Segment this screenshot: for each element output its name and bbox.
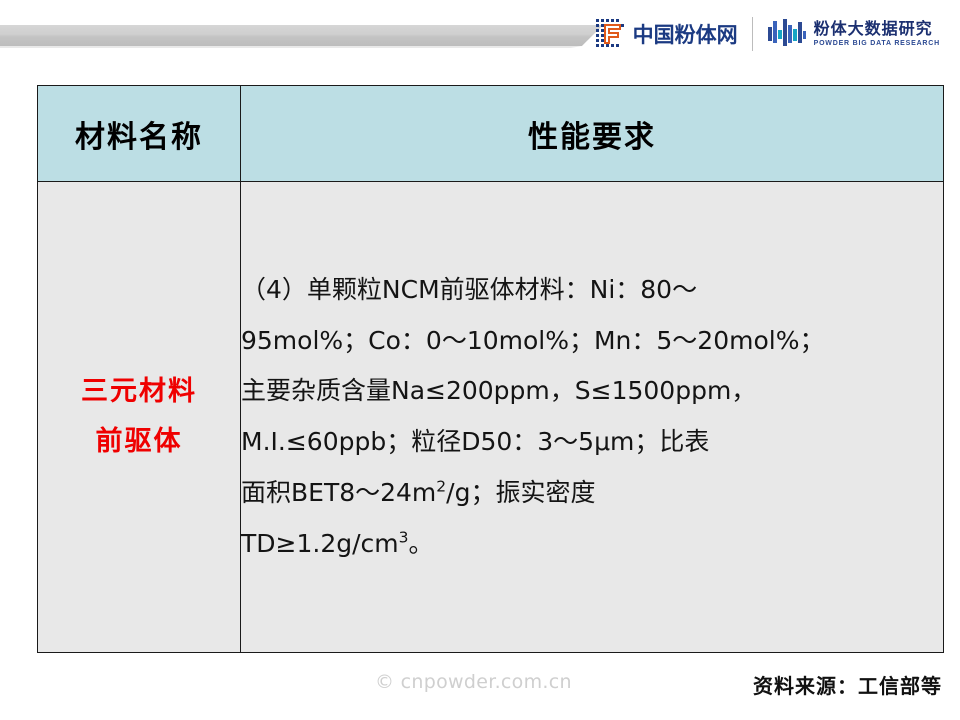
column-header-material-name: 材料名称 [38, 86, 241, 182]
spec-line-1: （4）单颗粒NCM前驱体材料：Ni：80～ [241, 265, 943, 316]
source-note: 资料来源：工信部等 [753, 670, 942, 699]
footer-watermark: © cnpowder.com.cn [375, 671, 572, 693]
cnpowder-logo-text: 中国粉体网 [633, 19, 738, 49]
spec-line-3: 主要杂质含量Na≤200ppm，S≤1500ppm， [241, 366, 943, 417]
table-header-row: 材料名称 性能要求 [38, 86, 944, 182]
cell-performance-requirement: （4）单颗粒NCM前驱体材料：Ni：80～ 95mol%；Co：0～10mol%… [241, 182, 944, 653]
powder-bigdata-name-en: POWDER BIG DATA RESEARCH [814, 40, 940, 47]
decorative-banner-bar [0, 25, 603, 46]
material-name-line-2: 前驱体 [38, 417, 240, 467]
spec-line-6: TD≥1.2g/cm3。 [241, 519, 943, 570]
column-header-performance-requirement: 性能要求 [241, 86, 944, 182]
bar-chart-logo-icon [767, 18, 807, 50]
cell-material-name: 三元材料 前驱体 [38, 182, 241, 653]
cnpowder-logo: 中国粉体网 [594, 17, 752, 51]
spec-line-4: M.I.≤60ppb；粒径D50：3～5μm；比表 [241, 417, 943, 468]
powder-bigdata-logo: 粉体大数据研究 POWDER BIG DATA RESEARCH [753, 18, 940, 50]
spec-line-5: 面积BET8～24m2/g；振实密度 [241, 468, 943, 519]
cnpowder-dot-matrix-logo-icon [594, 17, 628, 51]
page-header: 中国粉体网 粉体大数据研究 POWDER BIG DATA RESEARCH [0, 0, 960, 72]
decorative-banner-shadow [0, 46, 582, 48]
spec-line-2: 95mol%；Co：0～10mol%；Mn：5～20mol%； [241, 316, 943, 367]
powder-bigdata-logo-text: 粉体大数据研究 POWDER BIG DATA RESEARCH [814, 21, 940, 47]
table-row: 三元材料 前驱体 （4）单颗粒NCM前驱体材料：Ni：80～ 95mol%；Co… [38, 182, 944, 653]
material-name-line-1: 三元材料 [38, 367, 240, 417]
logo-group: 中国粉体网 粉体大数据研究 POWDER BIG DATA RESEARCH [594, 9, 940, 59]
material-spec-table: 材料名称 性能要求 三元材料 前驱体 （4）单颗粒NCM前驱体材料：Ni：80～… [37, 85, 944, 653]
powder-bigdata-name-cn: 粉体大数据研究 [814, 21, 940, 37]
